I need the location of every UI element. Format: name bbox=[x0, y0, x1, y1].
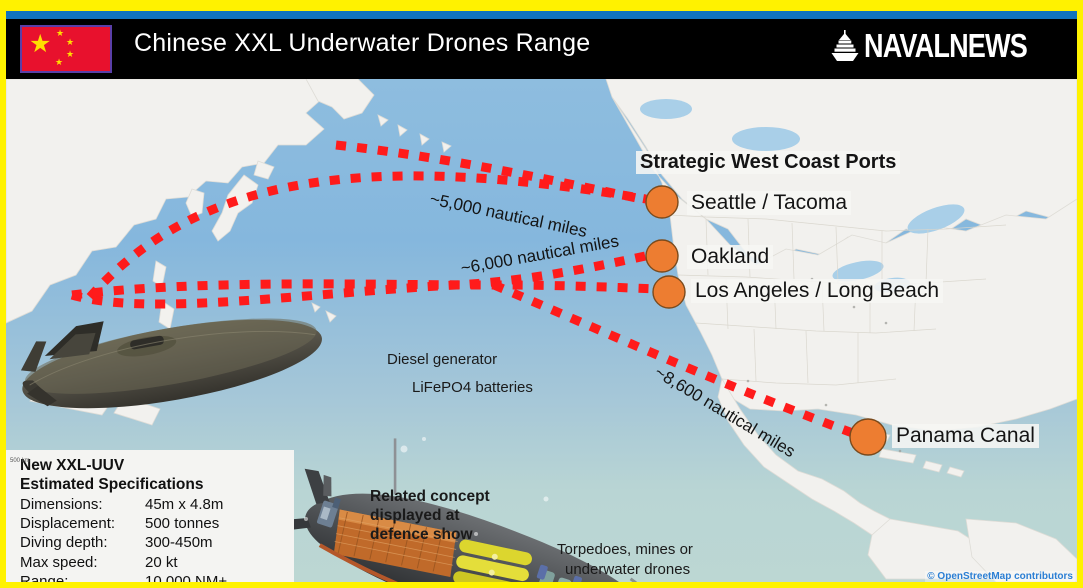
spec-row: Dimensions: 45m x 4.8m bbox=[20, 495, 227, 514]
infographic-frame: ★ ★ ★ ★ ★ Chinese XXL Underwater Drones … bbox=[0, 0, 1083, 588]
ports-heading: Strategic West Coast Ports bbox=[636, 151, 900, 174]
header-bar: ★ ★ ★ ★ ★ Chinese XXL Underwater Drones … bbox=[6, 11, 1077, 79]
navalnews-logo: NAVALNEWS bbox=[830, 27, 1063, 65]
concept-note-line3: defence show bbox=[370, 525, 473, 544]
spec-row: Range: 10,000 NM+ bbox=[20, 572, 227, 582]
spec-value: 45m x 4.8m bbox=[145, 495, 227, 514]
port-marker-oakland bbox=[646, 240, 678, 272]
port-label-oakland: Oakland bbox=[687, 245, 773, 269]
concept-note-line2: displayed at bbox=[370, 506, 460, 525]
port-marker-seattle bbox=[646, 186, 678, 218]
concept-note-line1: Related concept bbox=[370, 487, 490, 506]
spec-key: Max speed: bbox=[20, 553, 145, 572]
spec-subtitle: Estimated Specifications bbox=[20, 475, 294, 494]
spec-row: Max speed: 20 kt bbox=[20, 553, 227, 572]
spec-row: Diving depth: 300-450m bbox=[20, 533, 227, 552]
navalnews-wordmark: NAVALNEWS bbox=[864, 27, 1027, 65]
spec-title: New XXL-UUV bbox=[20, 456, 294, 475]
spec-value: 500 tonnes bbox=[145, 514, 227, 533]
spec-key: Diving depth: bbox=[20, 533, 145, 552]
payload-note-line2: underwater drones bbox=[565, 561, 690, 578]
header-top-accent bbox=[6, 11, 1077, 19]
port-marker-losangeles bbox=[653, 276, 685, 308]
port-label-seattle: Seattle / Tacoma bbox=[687, 191, 851, 215]
spec-table: Dimensions: 45m x 4.8m Displacement: 500… bbox=[20, 495, 227, 582]
map-scale-bar: 500 km bbox=[10, 458, 30, 464]
china-flag-icon: ★ ★ ★ ★ ★ bbox=[20, 25, 112, 73]
spec-key: Range: bbox=[20, 572, 145, 582]
port-marker-panama bbox=[850, 419, 886, 455]
spec-value: 20 kt bbox=[145, 553, 227, 572]
spec-value: 10,000 NM+ bbox=[145, 572, 227, 582]
spec-value: 300-450m bbox=[145, 533, 227, 552]
spec-key: Displacement: bbox=[20, 514, 145, 533]
spec-row: Displacement: 500 tonnes bbox=[20, 514, 227, 533]
port-label-panama: Panama Canal bbox=[892, 424, 1039, 448]
payload-note-line1: Torpedoes, mines or bbox=[557, 541, 693, 558]
port-label-losangeles: Los Angeles / Long Beach bbox=[691, 279, 943, 303]
map-canvas[interactable]: ~5,000 nautical miles ~6,000 nautical mi… bbox=[6, 79, 1077, 582]
diesel-generator-note: Diesel generator bbox=[387, 351, 497, 368]
page-title: Chinese XXL Underwater Drones Range bbox=[134, 29, 590, 58]
osm-attribution[interactable]: © OpenStreetMap contributors bbox=[925, 571, 1075, 582]
battery-note: LiFePO4 batteries bbox=[412, 379, 533, 396]
spec-panel: New XXL-UUV Estimated Specifications Dim… bbox=[6, 450, 294, 582]
ship-icon bbox=[830, 29, 860, 63]
spec-key: Dimensions: bbox=[20, 495, 145, 514]
